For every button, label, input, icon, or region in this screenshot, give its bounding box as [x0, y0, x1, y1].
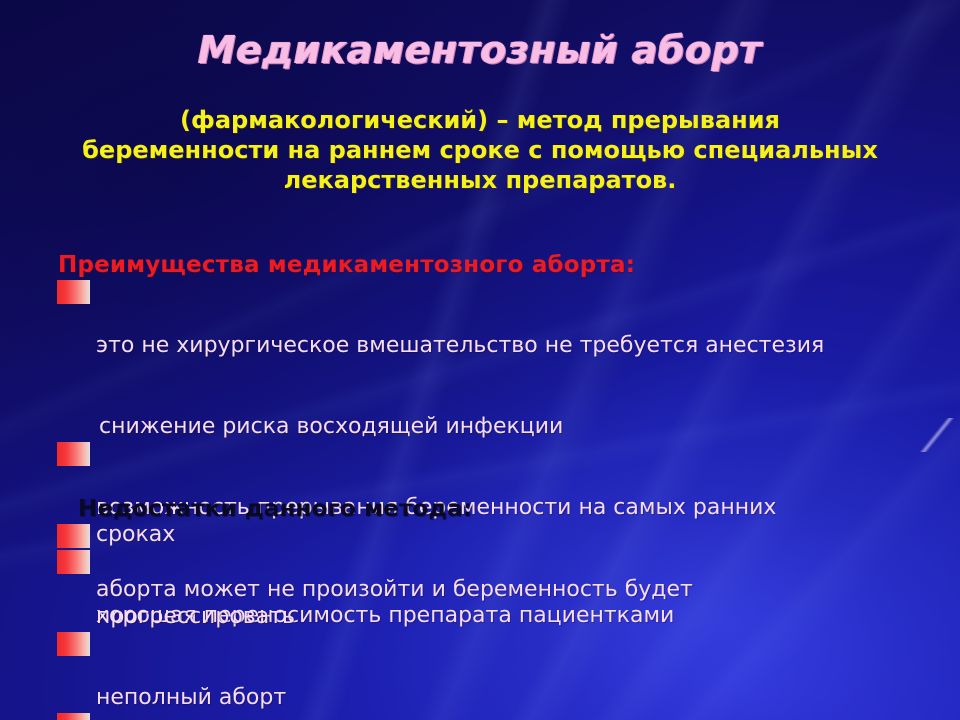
section-disadvantages: Недостатки данного метода: аборта может … [0, 496, 960, 720]
section-disadvantages-heading: Недостатки данного метода: [78, 496, 960, 522]
bullet-marker-icon [57, 280, 90, 304]
presentation-slide: Медикаментозный аборт (фармакологический… [0, 0, 960, 720]
slide-content: Медикаментозный аборт (фармакологический… [0, 0, 960, 720]
list-item: снижение риска восходящей инфекции [0, 359, 859, 440]
bullet-marker-icon [57, 632, 90, 656]
slide-title: Медикаментозный аборт [0, 28, 960, 72]
list-item: возможны маточные кровотечения [0, 711, 856, 720]
list-item-text: неполный аборт [96, 685, 286, 710]
bullet-marker-icon [57, 442, 90, 466]
slide-subtitle: (фармакологический) – метод прерывания б… [80, 105, 880, 195]
section-advantages-heading: Преимущества медикаментозного аборта: [58, 252, 960, 278]
list-item: это не хирургическое вмешательство не тр… [0, 278, 856, 359]
list-item-text: снижение риска восходящей инфекции [99, 414, 563, 439]
list-item-text: это не хирургическое вмешательство не тр… [96, 333, 824, 358]
list-item: неполный аборт [0, 630, 856, 711]
bullet-marker-icon [57, 524, 90, 548]
list-item-text: аборта может не произойти и беременность… [96, 577, 693, 629]
disadvantages-list: аборта может не произойти и беременность… [0, 522, 960, 720]
list-item: аборта может не произойти и беременность… [0, 522, 856, 630]
bullet-marker-icon [57, 713, 90, 720]
